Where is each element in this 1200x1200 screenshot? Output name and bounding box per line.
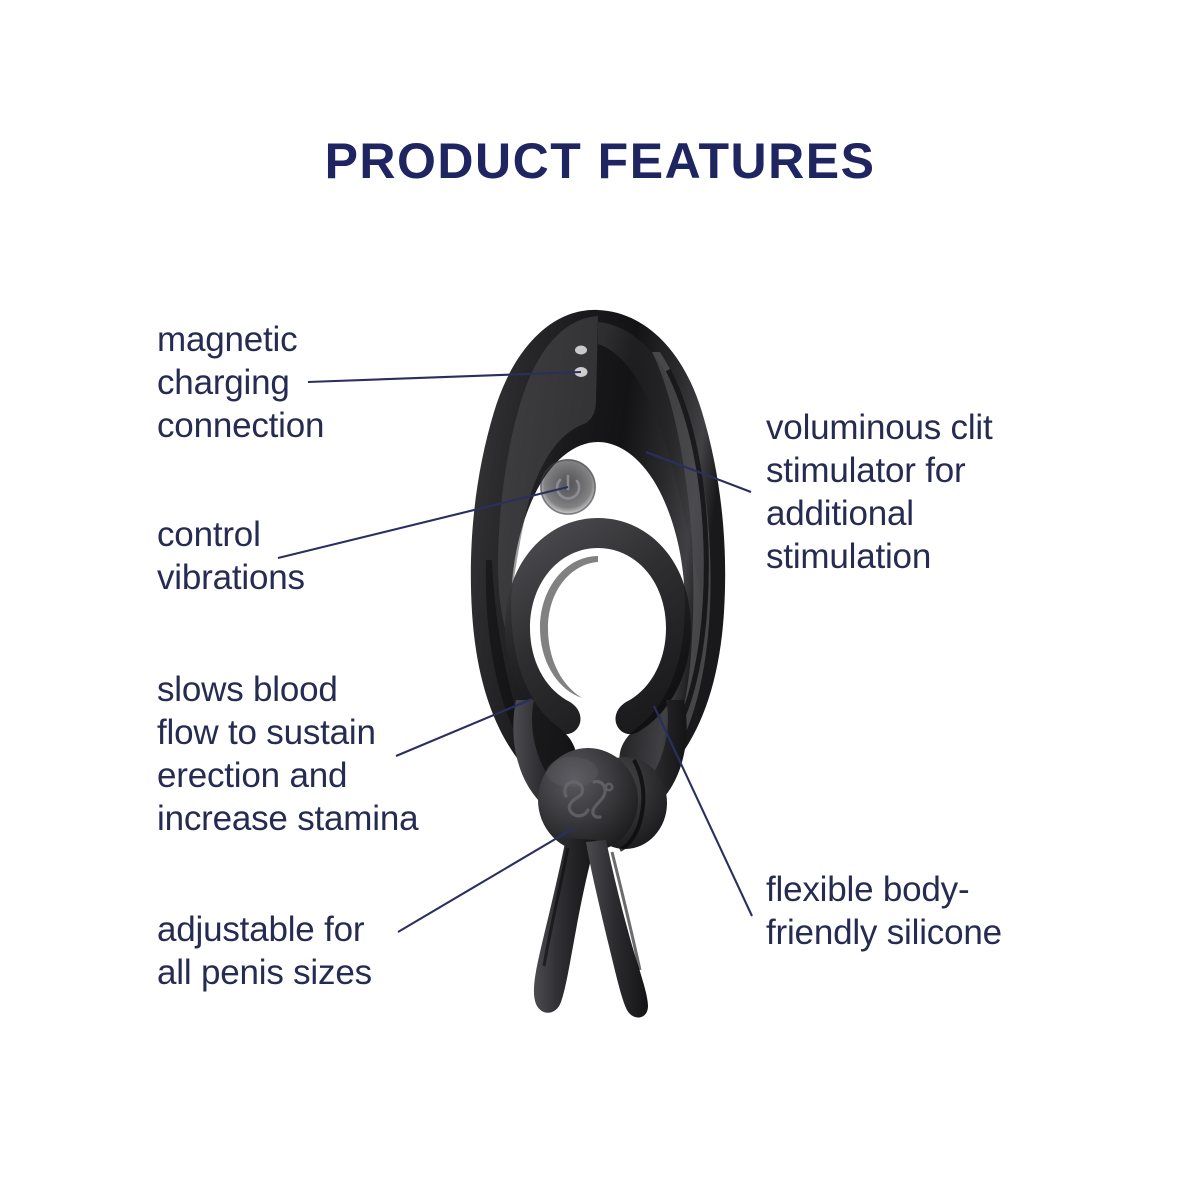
strap-tail-left: [534, 838, 596, 1013]
callout-label-adjustable-for-all-penis-sizes: adjustable for all penis sizes: [157, 908, 457, 994]
callout-label-magnetic-charging-connection: magnetic charging connection: [157, 318, 457, 447]
product-illustration: [0, 0, 1200, 1200]
product-features-infographic: PRODUCT FEATURES: [0, 0, 1200, 1200]
callout-label-flexible-body-friendly-silicone: flexible body- friendly silicone: [766, 868, 1066, 954]
power-button: [540, 459, 596, 515]
callout-label-slows-blood-flow: slows blood flow to sustain erection and…: [157, 668, 467, 840]
callout-label-control-vibrations: control vibrations: [157, 513, 447, 599]
strap-tail-right: [586, 840, 648, 1018]
ring-opening: [540, 556, 656, 700]
callout-label-voluminous-clit-stimulator: voluminous clit stimulator for additiona…: [766, 406, 1066, 578]
